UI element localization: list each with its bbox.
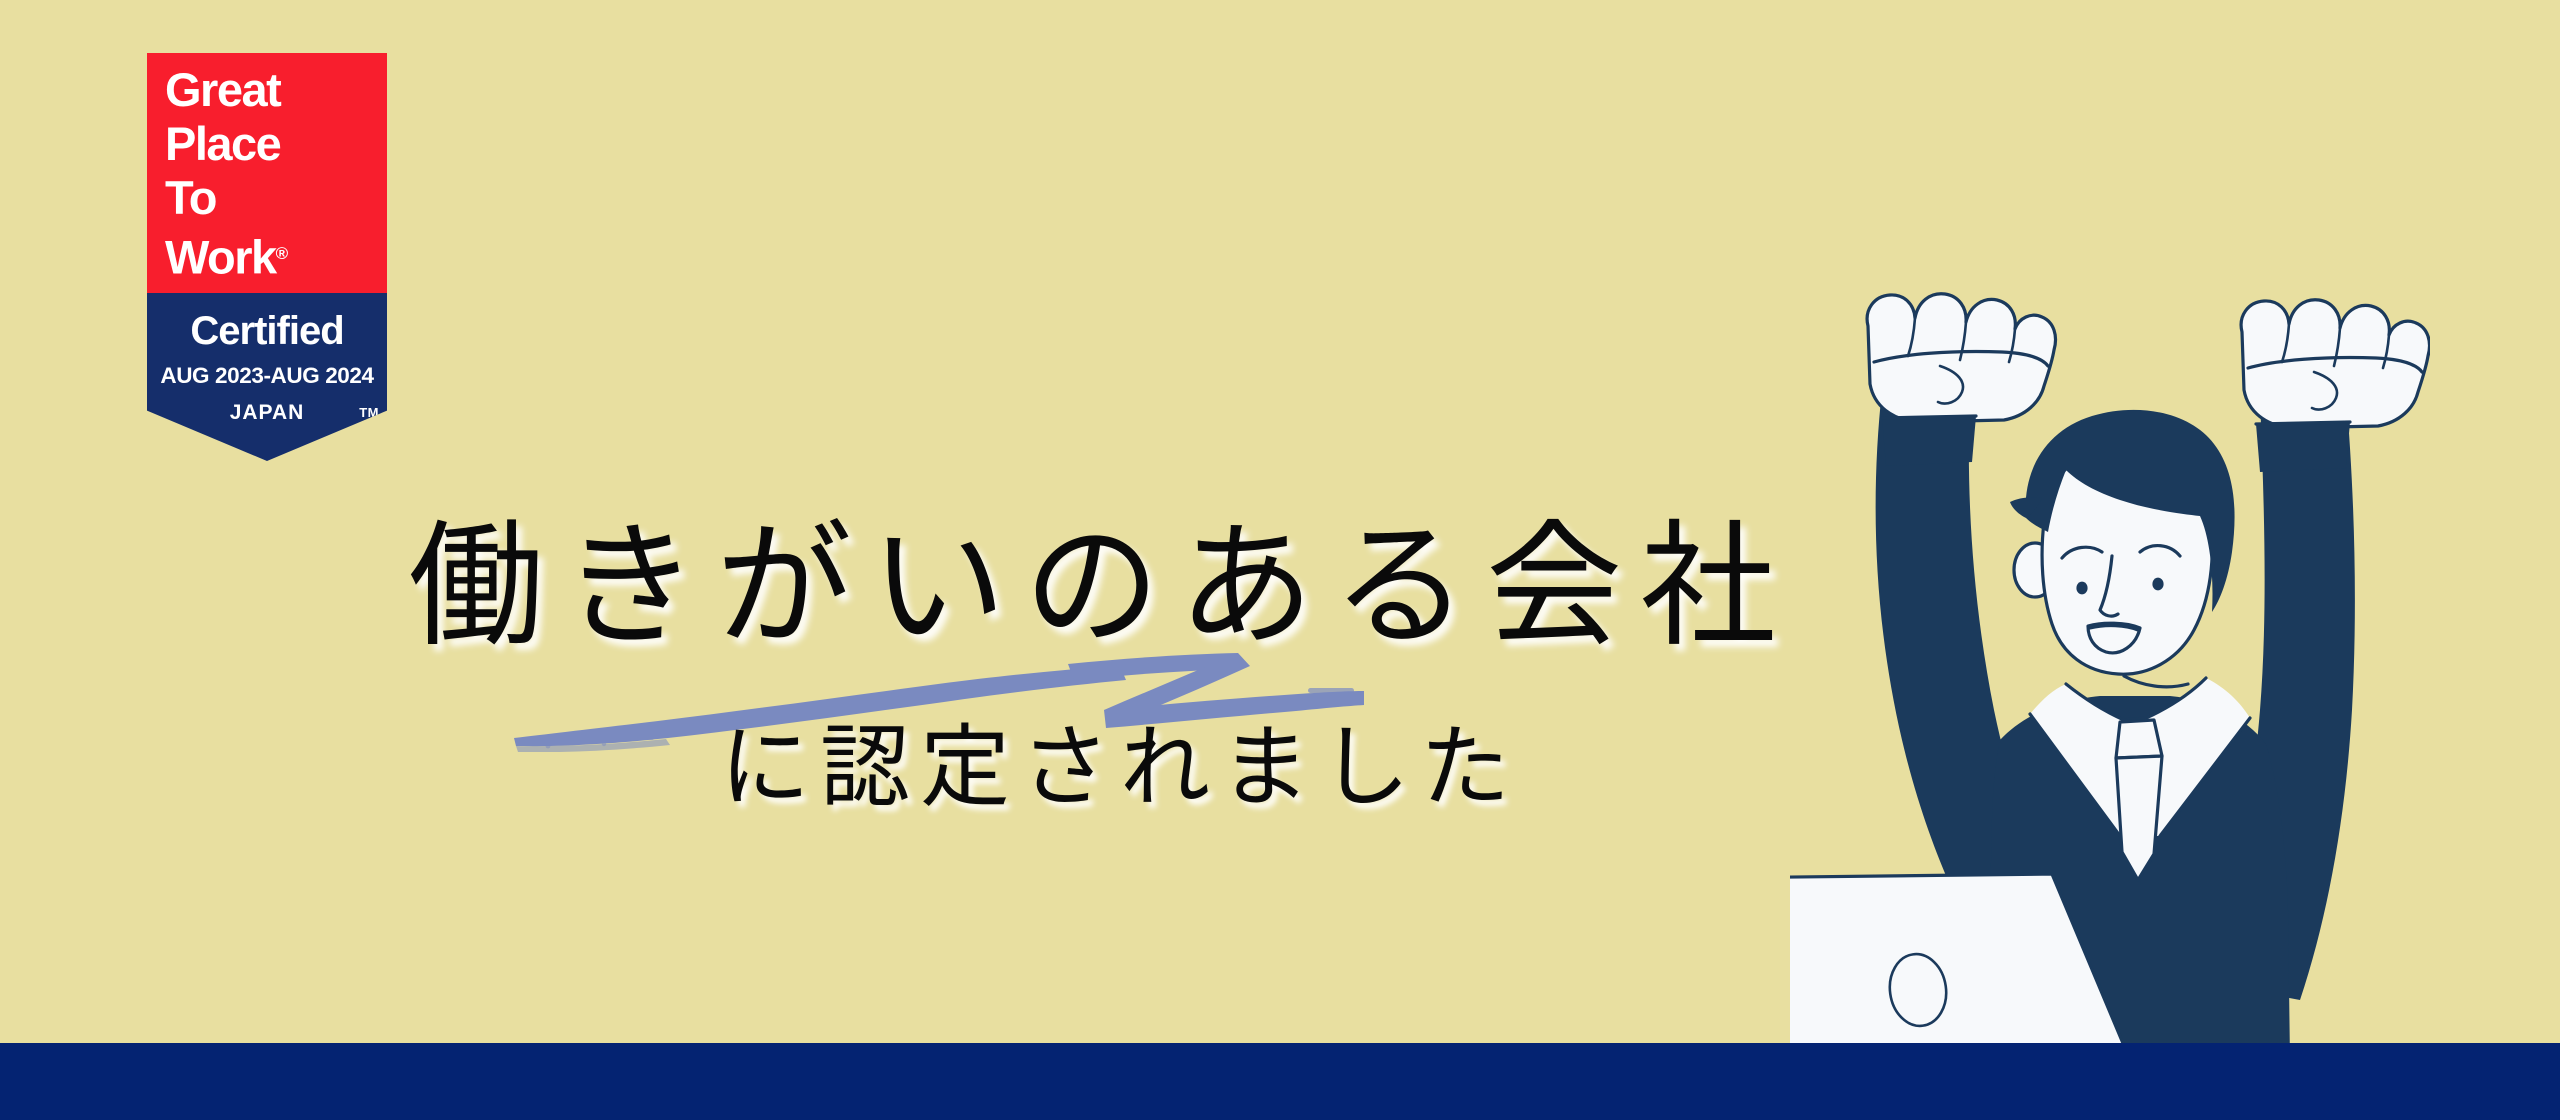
badge-brand-word-work: Work [165, 231, 276, 284]
badge-brand-line-2: Place [165, 117, 288, 171]
badge-country-label: JAPAN [147, 401, 387, 425]
raised-right-fist-icon [2241, 300, 2429, 472]
badge-brand-line-1: Great [165, 63, 288, 117]
head-icon [2010, 410, 2235, 687]
registered-trademark-icon: ® [276, 244, 289, 263]
badge-brand-line-4: Work® [165, 225, 288, 285]
certification-banner: Great Place To Work® Certified AUG 2023-… [0, 0, 2560, 1120]
badge-brand-line-3: To [165, 171, 288, 225]
headline-line-1: 働きがいのある会社 [408, 512, 1794, 662]
headline-block: 働きがいのある会社 に認 [408, 512, 1728, 842]
badge-date-range: AUG 2023-AUG 2024 [147, 363, 387, 389]
headline-line-2: に認定されました [720, 718, 1520, 818]
raised-left-fist-icon [1867, 294, 2055, 466]
trademark-icon: TM [359, 405, 379, 420]
footer-bar [0, 1043, 2560, 1120]
badge-brand-text: Great Place To Work® [165, 63, 288, 285]
badge-certified-label: Certified [147, 309, 387, 354]
badge-red-panel: Great Place To Work® [147, 53, 387, 293]
great-place-to-work-certified-badge[interactable]: Great Place To Work® Certified AUG 2023-… [147, 53, 387, 461]
cheering-businessman-illustration: .navy { fill: #1b3a5c; } .white { fill: … [1790, 270, 2430, 1060]
badge-navy-ribbon: Certified AUG 2023-AUG 2024 JAPAN TM [147, 293, 387, 461]
